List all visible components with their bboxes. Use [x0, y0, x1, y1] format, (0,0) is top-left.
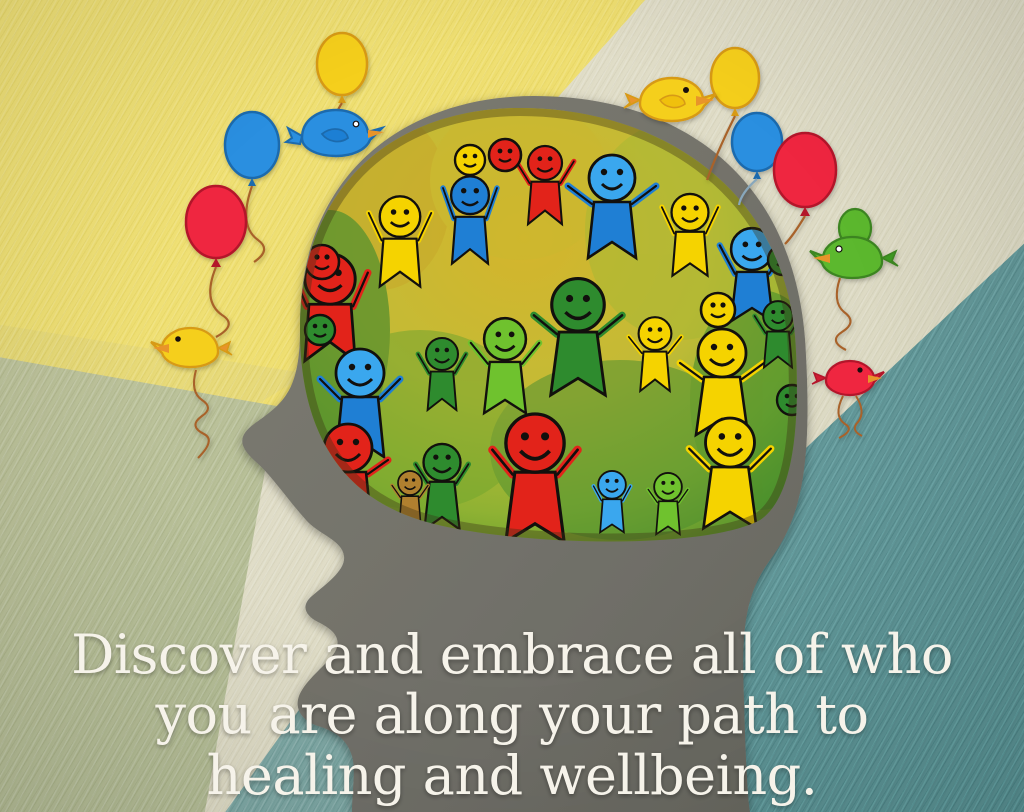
quote-text: Discover and embrace all of who you are …: [0, 625, 1024, 806]
poster-canvas: Discover and embrace all of who you are …: [0, 0, 1024, 812]
